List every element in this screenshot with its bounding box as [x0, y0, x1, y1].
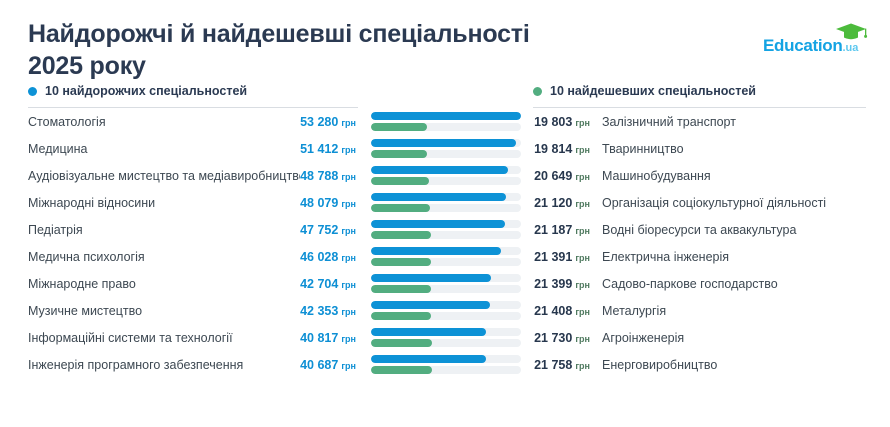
specialty-name-cheapest: Тваринництво: [596, 142, 866, 156]
bar-fill-cheapest: [371, 258, 431, 266]
specialty-price-cheapest: 21 391грн: [534, 248, 596, 266]
bar-fill-cheapest: [371, 285, 431, 293]
bar-track-cheapest: [371, 150, 521, 158]
bar-pair: [358, 274, 534, 293]
price-value-cheapest: 20 649: [534, 169, 572, 183]
logo-wordmark-text: Education: [763, 36, 842, 55]
specialty-price-expensive: 48 788грн: [300, 167, 358, 185]
page-title-line-2: 2025 року: [28, 50, 728, 82]
bar-fill-expensive: [371, 274, 491, 282]
price-value-expensive: 51 412: [300, 142, 338, 156]
logo-tld-text: .ua: [842, 42, 858, 54]
bar-fill-cheapest: [371, 177, 429, 185]
bar-pair: [358, 193, 534, 212]
bar-track-expensive: [371, 112, 521, 120]
page-title-line-1: Найдорожчі й найдешевші спеціальності: [28, 20, 530, 48]
comparison-rows: Стоматологія53 280грн19 803грнЗалізнични…: [0, 108, 890, 378]
currency-label-cheapest: грн: [575, 253, 590, 263]
currency-label-cheapest: грн: [575, 280, 590, 290]
currency-label-cheapest: грн: [575, 199, 590, 209]
specialty-price-cheapest: 21 187грн: [534, 221, 596, 239]
bar-fill-cheapest: [371, 204, 430, 212]
specialty-price-cheapest: 21 408грн: [534, 302, 596, 320]
price-value-expensive: 48 788: [300, 169, 338, 183]
currency-label-cheapest: грн: [575, 334, 590, 344]
education-ua-logo[interactable]: Education.ua: [763, 22, 868, 58]
specialty-name-expensive: Аудіовізуальне мистецтво та медіавиробни…: [28, 169, 300, 183]
bar-track-expensive: [371, 328, 521, 336]
comparison-row: Інформаційні системи та технології40 817…: [28, 324, 866, 351]
specialty-name-expensive: Інформаційні системи та технології: [28, 331, 300, 345]
currency-label-expensive: грн: [341, 334, 356, 344]
price-value-expensive: 47 752: [300, 223, 338, 237]
bar-track-expensive: [371, 355, 521, 363]
bar-fill-expensive: [371, 355, 486, 363]
price-value-expensive: 53 280: [300, 115, 338, 129]
bar-track-cheapest: [371, 258, 521, 266]
specialty-name-cheapest: Організація соціокультурної діяльності: [596, 196, 866, 210]
currency-label-expensive: грн: [341, 118, 356, 128]
price-value-expensive: 40 817: [300, 331, 338, 345]
specialty-price-cheapest: 19 803грн: [534, 113, 596, 131]
specialty-price-expensive: 42 704грн: [300, 275, 358, 293]
specialty-name-expensive: Медична психологія: [28, 250, 300, 264]
section-label-cheapest: 10 найдешевших спеціальностей: [550, 84, 756, 98]
page-title: Найдорожчі й найдешевші спеціальності 20…: [28, 18, 728, 82]
bar-track-expensive: [371, 301, 521, 309]
bar-track-cheapest: [371, 339, 521, 347]
bar-track-expensive: [371, 247, 521, 255]
comparison-row: Аудіовізуальне мистецтво та медіавиробни…: [28, 162, 866, 189]
comparison-row: Міжнародне право42 704грн21 399грнСадово…: [28, 270, 866, 297]
price-value-expensive: 48 079: [300, 196, 338, 210]
comparison-row: Медична психологія46 028грн21 391грнЕлек…: [28, 243, 866, 270]
price-value-cheapest: 21 408: [534, 304, 572, 318]
specialty-price-expensive: 47 752грн: [300, 221, 358, 239]
specialty-price-cheapest: 21 120грн: [534, 194, 596, 212]
specialty-price-expensive: 40 817грн: [300, 329, 358, 347]
specialty-name-expensive: Стоматологія: [28, 115, 300, 129]
currency-label-cheapest: грн: [575, 307, 590, 317]
legend-dot-cheapest-icon: [533, 87, 542, 96]
bar-fill-expensive: [371, 220, 505, 228]
section-headers: 10 найдорожчих спеціальностей 10 найдеше…: [0, 84, 890, 108]
specialty-price-expensive: 53 280грн: [300, 113, 358, 131]
currency-label-cheapest: грн: [575, 145, 590, 155]
comparison-row: Міжнародні відносини48 079грн21 120грнОр…: [28, 189, 866, 216]
bar-pair: [358, 220, 534, 239]
bar-pair: [358, 139, 534, 158]
specialty-price-cheapest: 21 730грн: [534, 329, 596, 347]
bar-fill-expensive: [371, 139, 516, 147]
price-value-cheapest: 21 399: [534, 277, 572, 291]
bar-track-cheapest: [371, 123, 521, 131]
bar-fill-cheapest: [371, 312, 431, 320]
price-value-expensive: 42 353: [300, 304, 338, 318]
currency-label-expensive: грн: [341, 199, 356, 209]
section-header-spacer: [358, 84, 533, 108]
currency-label-expensive: грн: [341, 361, 356, 371]
currency-label-expensive: грн: [341, 253, 356, 263]
specialty-name-expensive: Інженерія програмного забезпечення: [28, 358, 300, 372]
specialty-price-expensive: 51 412грн: [300, 140, 358, 158]
bar-track-cheapest: [371, 231, 521, 239]
specialty-name-cheapest: Водні біоресурси та аквакультура: [596, 223, 866, 237]
bar-pair: [358, 247, 534, 266]
bar-fill-expensive: [371, 301, 490, 309]
currency-label-cheapest: грн: [575, 118, 590, 128]
bar-track-cheapest: [371, 177, 521, 185]
legend-dot-expensive-icon: [28, 87, 37, 96]
specialty-price-expensive: 40 687грн: [300, 356, 358, 374]
specialty-price-expensive: 48 079грн: [300, 194, 358, 212]
bar-track-expensive: [371, 274, 521, 282]
bar-track-expensive: [371, 220, 521, 228]
price-value-cheapest: 21 391: [534, 250, 572, 264]
specialty-name-expensive: Міжнародне право: [28, 277, 300, 291]
currency-label-cheapest: грн: [575, 226, 590, 236]
specialty-name-cheapest: Агроінженерія: [596, 331, 866, 345]
bar-fill-cheapest: [371, 366, 432, 374]
price-value-cheapest: 21 730: [534, 331, 572, 345]
bar-fill-cheapest: [371, 339, 432, 347]
bar-fill-cheapest: [371, 231, 431, 239]
currency-label-expensive: грн: [341, 172, 356, 182]
specialty-price-cheapest: 19 814грн: [534, 140, 596, 158]
specialty-price-cheapest: 21 399грн: [534, 275, 596, 293]
section-header-left: 10 найдорожчих спеціальностей: [28, 84, 358, 108]
bar-fill-cheapest: [371, 123, 427, 131]
currency-label-expensive: грн: [341, 145, 356, 155]
bar-fill-expensive: [371, 328, 486, 336]
specialty-name-expensive: Педіатрія: [28, 223, 300, 237]
specialty-price-expensive: 42 353грн: [300, 302, 358, 320]
logo-wordmark: Education.ua: [763, 36, 858, 56]
comparison-row: Музичне мистецтво42 353грн21 408грнМетал…: [28, 297, 866, 324]
price-value-cheapest: 21 758: [534, 358, 572, 372]
bar-track-expensive: [371, 139, 521, 147]
bar-fill-expensive: [371, 166, 508, 174]
comparison-row: Педіатрія47 752грн21 187грнВодні біоресу…: [28, 216, 866, 243]
specialty-name-cheapest: Металургія: [596, 304, 866, 318]
currency-label-expensive: грн: [341, 307, 356, 317]
section-divider-left: [28, 107, 358, 108]
bar-pair: [358, 112, 534, 131]
currency-label-expensive: грн: [341, 226, 356, 236]
specialty-name-cheapest: Садово-паркове господарство: [596, 277, 866, 291]
bar-pair: [358, 301, 534, 320]
price-value-cheapest: 21 187: [534, 223, 572, 237]
specialty-name-cheapest: Залізничний транспорт: [596, 115, 866, 129]
price-value-cheapest: 19 803: [534, 115, 572, 129]
currency-label-cheapest: грн: [575, 172, 590, 182]
bar-track-expensive: [371, 166, 521, 174]
bar-fill-expensive: [371, 193, 506, 201]
bar-fill-expensive: [371, 112, 521, 120]
price-value-expensive: 46 028: [300, 250, 338, 264]
specialty-price-cheapest: 21 758грн: [534, 356, 596, 374]
bar-track-cheapest: [371, 285, 521, 293]
bar-track-cheapest: [371, 312, 521, 320]
specialty-name-expensive: Музичне мистецтво: [28, 304, 300, 318]
specialty-name-cheapest: Машинобудування: [596, 169, 866, 183]
price-value-expensive: 40 687: [300, 358, 338, 372]
specialty-name-cheapest: Енерговиробництво: [596, 358, 866, 372]
page-header: Найдорожчі й найдешевші спеціальності 20…: [0, 0, 890, 84]
currency-label-expensive: грн: [341, 280, 356, 290]
bar-track-cheapest: [371, 366, 521, 374]
currency-label-cheapest: грн: [575, 361, 590, 371]
section-divider-right: [533, 107, 866, 108]
specialty-price-cheapest: 20 649грн: [534, 167, 596, 185]
specialty-price-expensive: 46 028грн: [300, 248, 358, 266]
specialty-name-expensive: Медицина: [28, 142, 300, 156]
bar-track-expensive: [371, 193, 521, 201]
bar-pair: [358, 166, 534, 185]
price-value-expensive: 42 704: [300, 277, 338, 291]
bar-pair: [358, 328, 534, 347]
bar-fill-cheapest: [371, 150, 427, 158]
bar-pair: [358, 355, 534, 374]
specialty-name-cheapest: Електрична інженерія: [596, 250, 866, 264]
comparison-row: Інженерія програмного забезпечення40 687…: [28, 351, 866, 378]
price-value-cheapest: 21 120: [534, 196, 572, 210]
bar-fill-expensive: [371, 247, 501, 255]
price-value-cheapest: 19 814: [534, 142, 572, 156]
bar-track-cheapest: [371, 204, 521, 212]
section-header-right: 10 найдешевших спеціальностей: [533, 84, 866, 108]
specialty-name-expensive: Міжнародні відносини: [28, 196, 300, 210]
comparison-row: Стоматологія53 280грн19 803грнЗалізнични…: [28, 108, 866, 135]
section-label-expensive: 10 найдорожчих спеціальностей: [45, 84, 247, 98]
comparison-row: Медицина51 412грн19 814грнТваринництво: [28, 135, 866, 162]
